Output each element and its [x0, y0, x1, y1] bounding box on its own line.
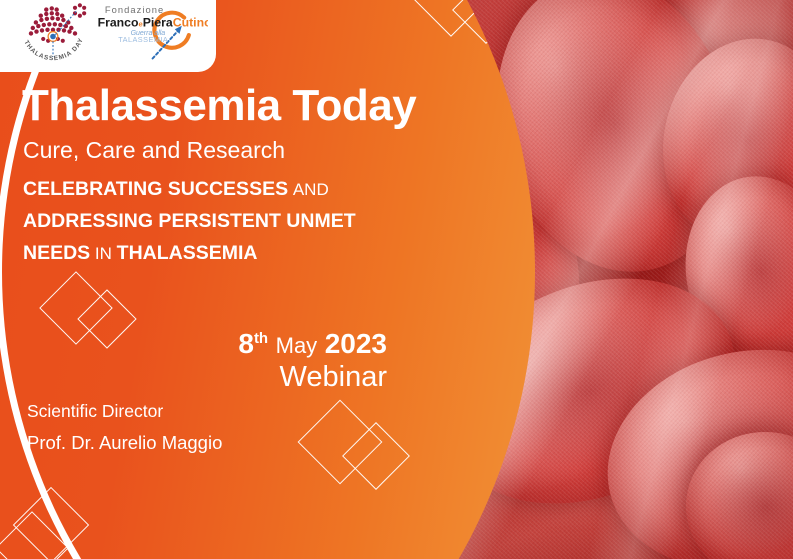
event-day-ordinal: th — [254, 330, 268, 347]
svg-text:THALASSEMIA DAY: THALASSEMIA DAY — [22, 37, 85, 63]
fondazione-tagline-2: TALASSEMIA — [118, 35, 168, 44]
event-day: 8 — [238, 328, 254, 359]
theme-line3-bold-a: NEEDS — [23, 242, 90, 264]
diamond-decoration-bottom-left — [6, 498, 106, 559]
fondazione-line1: Fondazione — [105, 5, 164, 15]
fondazione-logo: Fondazione FrancoePieraCutino Guerra all… — [96, 0, 208, 62]
event-year: 2023 — [325, 328, 387, 359]
event-date-block: 8th May 2023 Webinar — [120, 330, 387, 392]
fondazione-cutino: Cutino — [173, 15, 208, 29]
event-format: Webinar — [120, 363, 387, 392]
thalassemia-day-logo: THALASSEMIA DAY — [16, 0, 90, 64]
page-subtitle: Cure, Care and Research — [23, 138, 285, 163]
diamond-decoration-lower-middle — [310, 412, 410, 504]
event-month: May — [276, 333, 318, 358]
fondazione-e: e — [139, 19, 143, 28]
event-date: 8th May 2023 — [120, 330, 387, 358]
theme-line1-bold: CELEBRATING SUCCESSES — [23, 178, 288, 200]
thalassemia-day-arc-text: THALASSEMIA DAY — [22, 37, 85, 63]
scientific-director-label: Scientific Director — [27, 403, 222, 421]
fondazione-piera: Piera — [143, 15, 173, 29]
fondazione-franco: Franco — [98, 15, 139, 29]
poster-root: Thalassemia Today Cure, Care and Researc… — [0, 0, 793, 559]
theme-line3-bold-b: THALASSEMIA — [117, 242, 258, 264]
theme-line1-light: AND — [293, 180, 329, 199]
scientific-director-name: Prof. Dr. Aurelio Maggio — [27, 434, 222, 453]
theme-line2-bold: ADDRESSING PERSISTENT UNMET — [23, 210, 356, 232]
page-title: Thalassemia Today — [22, 83, 416, 129]
logo-plate: THALASSEMIA DAY Fondazione FrancoePieraC… — [0, 0, 216, 72]
theme-line3-light: IN — [95, 244, 112, 263]
svg-text:FrancoePieraCutino: FrancoePieraCutino — [98, 15, 208, 29]
credits-block: Scientific Director Prof. Dr. Aurelio Ma… — [27, 403, 222, 452]
theme-statement: CELEBRATING SUCCESSES AND ADDRESSING PER… — [23, 174, 423, 269]
